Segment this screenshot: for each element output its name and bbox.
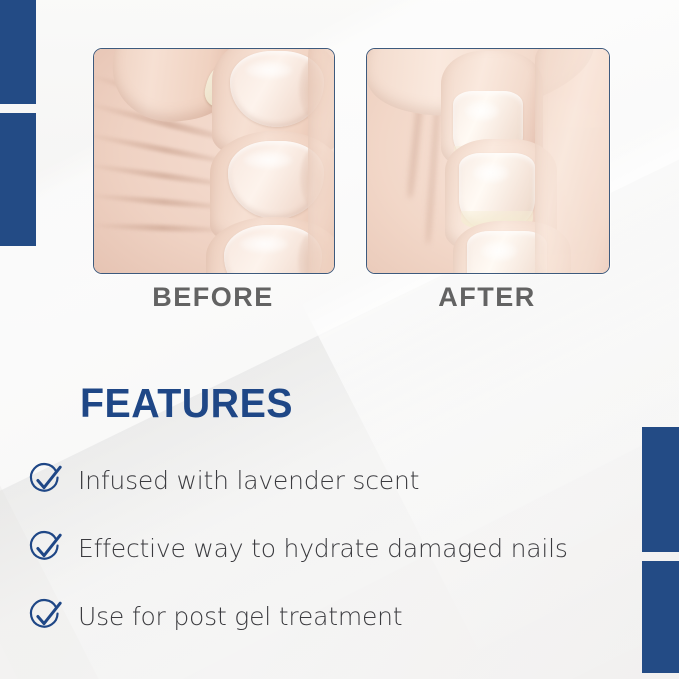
- decor-bar-left-bottom: [0, 113, 36, 246]
- features-list: Infused with lavender scent Effective wa…: [26, 446, 646, 650]
- before-label: BEFORE: [93, 282, 333, 313]
- product-feature-banner: BEFORE AFTER FEATURES Infused with laven…: [0, 0, 679, 679]
- feature-label: Effective way to hydrate damaged nails: [78, 534, 568, 563]
- after-label: AFTER: [366, 282, 608, 313]
- check-circle-icon: [26, 529, 64, 567]
- check-circle-icon: [26, 461, 64, 499]
- feature-item-2: Effective way to hydrate damaged nails: [26, 514, 646, 582]
- decor-bar-right-top: [642, 427, 679, 552]
- check-circle-icon: [26, 597, 64, 635]
- features-heading: FEATURES: [80, 380, 293, 427]
- decor-bar-left-top: [0, 0, 36, 104]
- after-photo: [366, 48, 610, 274]
- feature-item-1: Infused with lavender scent: [26, 446, 646, 514]
- feature-label: Infused with lavender scent: [78, 466, 419, 495]
- decor-bar-right-bottom: [642, 561, 679, 673]
- feature-label: Use for post gel treatment: [78, 602, 402, 631]
- before-photo: [93, 48, 335, 274]
- feature-item-3: Use for post gel treatment: [26, 582, 646, 650]
